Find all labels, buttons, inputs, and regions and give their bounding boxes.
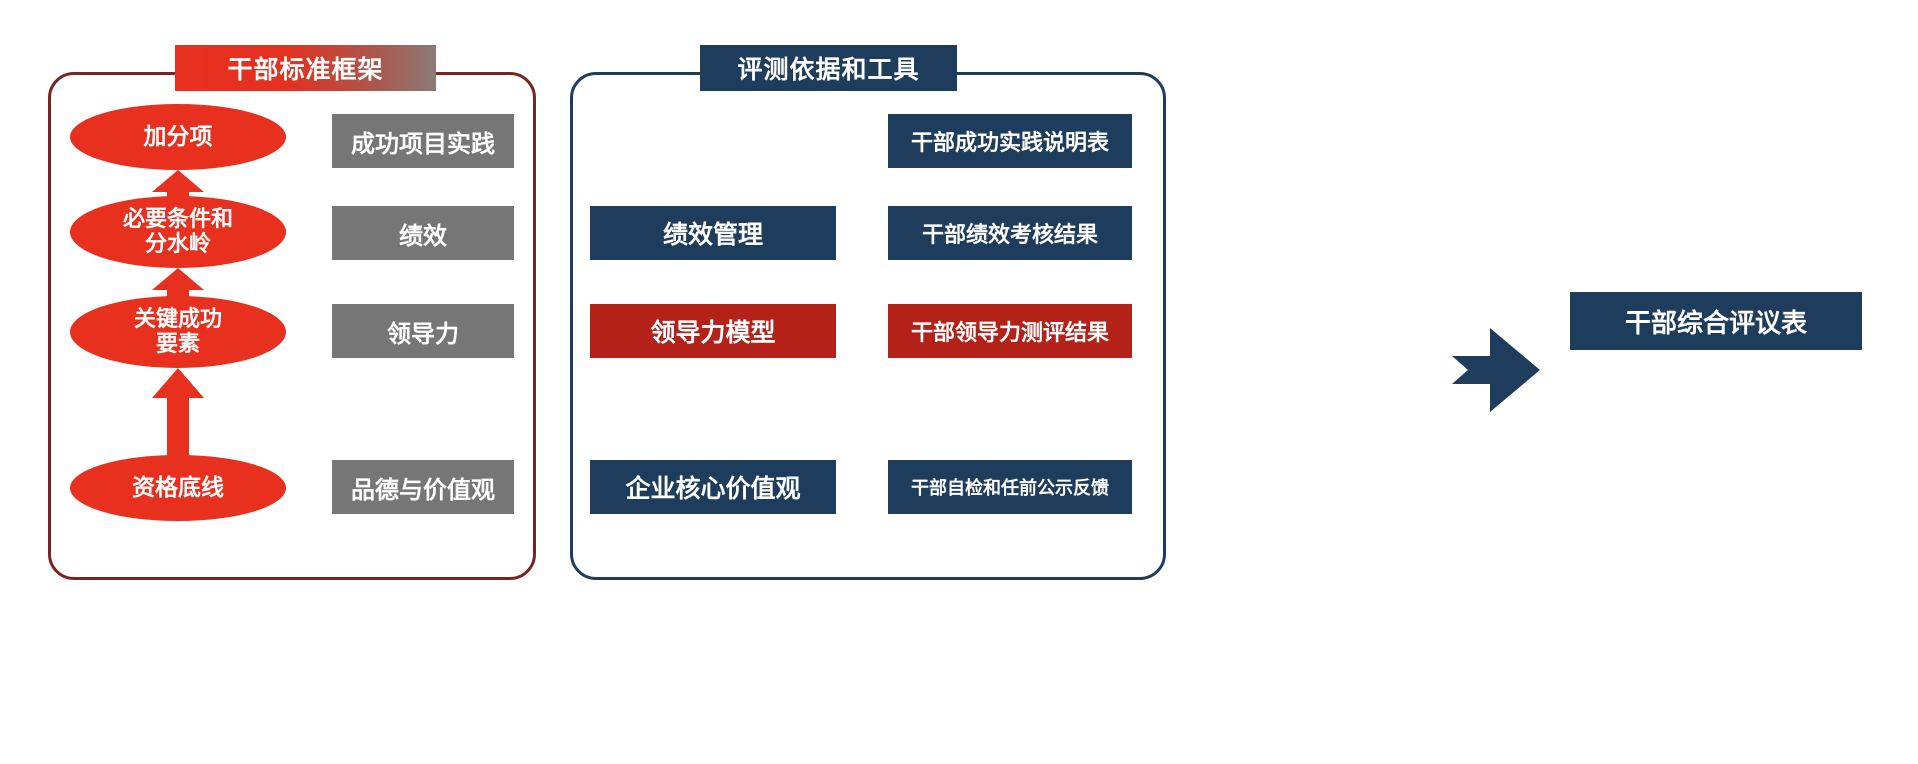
capability-box-character-values-label: 品德与价值观 — [351, 470, 495, 505]
up-arrow-icon — [152, 268, 204, 298]
level-ellipse-bonus-label: 加分项 — [144, 124, 213, 150]
panel-title-cadre-standard-framework: 干部标准框架 — [175, 45, 436, 91]
output-box-performance-appraisal-result-label: 干部绩效考核结果 — [922, 217, 1098, 249]
capability-box-performance-label: 绩效 — [399, 216, 447, 251]
output-box-leadership-assessment-result[interactable]: 干部领导力测评结果 — [888, 304, 1132, 358]
level-ellipse-key-success-factor[interactable]: 关键成功 要素 — [70, 296, 286, 368]
result-box-comprehensive-evaluation-form[interactable]: 干部综合评议表 — [1570, 292, 1862, 350]
panel-title-assessment-basis-and-tools: 评测依据和工具 — [700, 45, 957, 91]
level-ellipse-baseline-label: 资格底线 — [132, 475, 224, 501]
result-box-comprehensive-evaluation-form-label: 干部综合评议表 — [1625, 303, 1807, 340]
level-ellipse-prerequisite-label-line1: 必要条件和 — [123, 207, 233, 232]
output-box-success-practice-statement[interactable]: 干部成功实践说明表 — [888, 114, 1132, 168]
tool-box-core-values-label: 企业核心价值观 — [625, 469, 800, 505]
level-ellipse-baseline[interactable]: 资格底线 — [70, 455, 286, 521]
level-ellipse-key-success-factor-label-line2: 要素 — [134, 332, 222, 357]
level-ellipse-prerequisite-label-line2: 分水岭 — [123, 232, 233, 257]
chevron-right-arrow-icon — [1452, 328, 1540, 412]
tool-box-leadership-model-label: 领导力模型 — [650, 313, 775, 349]
output-box-self-check-and-publicity-feedback[interactable]: 干部自检和任前公示反馈 — [888, 460, 1132, 514]
output-box-self-check-and-publicity-feedback-label: 干部自检和任前公示反馈 — [911, 474, 1109, 500]
level-ellipse-key-success-factor-label-line1: 关键成功 — [134, 307, 222, 332]
tool-box-performance-management[interactable]: 绩效管理 — [590, 206, 836, 260]
capability-box-project-practice-label: 成功项目实践 — [351, 124, 495, 159]
tool-box-core-values[interactable]: 企业核心价值观 — [590, 460, 836, 514]
capability-box-leadership-label: 领导力 — [387, 314, 459, 349]
tool-box-performance-management-label: 绩效管理 — [663, 215, 763, 251]
capability-box-leadership[interactable]: 领导力 — [332, 304, 514, 358]
output-box-success-practice-statement-label: 干部成功实践说明表 — [911, 125, 1109, 157]
level-ellipse-prerequisite[interactable]: 必要条件和 分水岭 — [70, 196, 286, 268]
diagram-canvas: 干部标准框架 加分项 必要条件和 分水岭 关键成功 要素 资格底线 成功项目实践… — [0, 0, 1918, 764]
tool-box-leadership-model[interactable]: 领导力模型 — [590, 304, 836, 358]
output-box-performance-appraisal-result[interactable]: 干部绩效考核结果 — [888, 206, 1132, 260]
capability-box-performance[interactable]: 绩效 — [332, 206, 514, 260]
capability-box-project-practice[interactable]: 成功项目实践 — [332, 114, 514, 168]
output-box-leadership-assessment-result-label: 干部领导力测评结果 — [911, 315, 1109, 347]
level-ellipse-bonus[interactable]: 加分项 — [70, 104, 286, 170]
up-arrow-icon — [152, 170, 204, 200]
capability-box-character-values[interactable]: 品德与价值观 — [332, 460, 514, 514]
up-arrow-icon — [152, 368, 204, 458]
